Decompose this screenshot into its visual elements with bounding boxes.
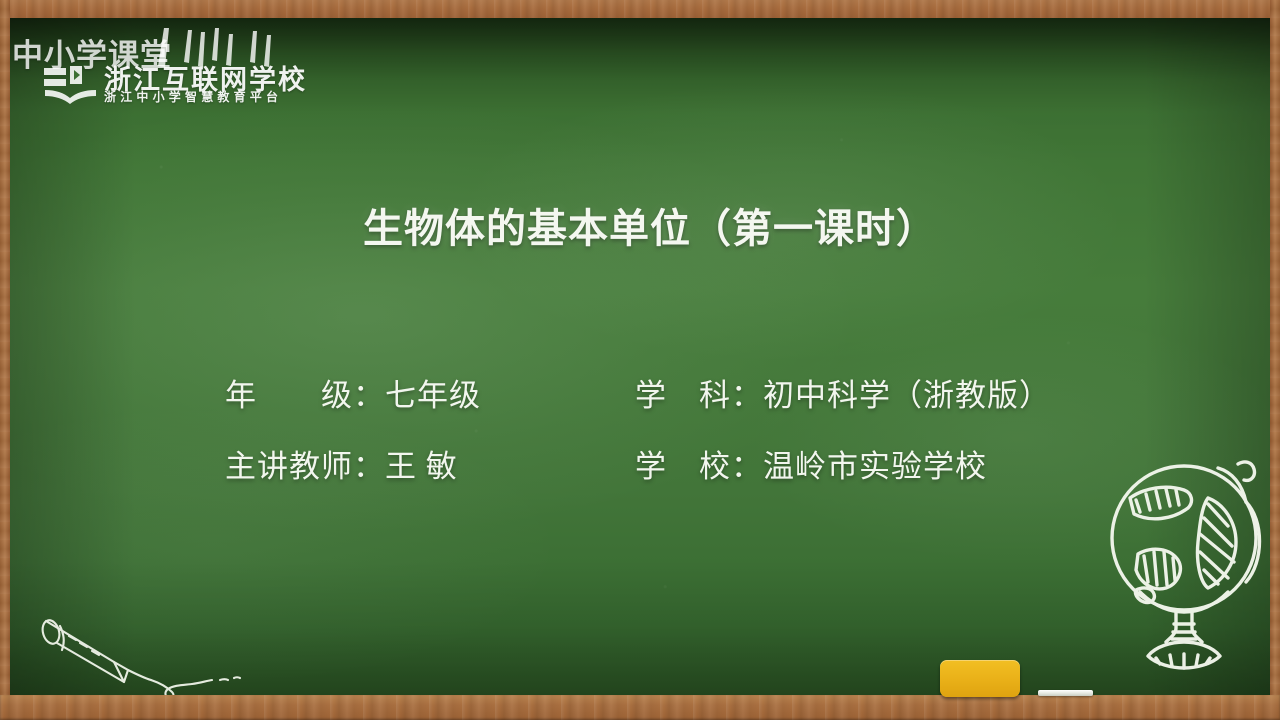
subject-cell: 学 科：初中科学（浙教版） (635, 370, 1125, 415)
lesson-title-slide: 中小学课堂 (0, 0, 1280, 720)
chalk-piece-icon[interactable] (1038, 690, 1093, 696)
board-frame-right (1270, 0, 1280, 720)
grade-cell: 年 级：七年级 (225, 370, 635, 415)
globe-drawing-icon (1096, 442, 1266, 677)
board-vignette (10, 18, 1270, 695)
school-label: 学 校： (635, 441, 763, 486)
teacher-cell: 主讲教师：王 敏 (225, 441, 635, 486)
board-eraser-icon[interactable] (940, 660, 1020, 697)
board-frame-left (0, 0, 10, 720)
open-book-play-icon (42, 62, 100, 106)
platform-subtitle: 浙江中小学智慧教育平台 (104, 88, 282, 105)
school-value: 温岭市实验学校 (763, 441, 987, 486)
subject-label: 学 科： (635, 370, 763, 415)
chalk-pen-drawing-icon (24, 610, 254, 695)
chalkboard-surface: 中小学课堂 (10, 18, 1270, 695)
school-cell: 学 校：温岭市实验学校 (635, 441, 1125, 486)
lesson-title: 生物体的基本单位（第一课时） (10, 196, 1270, 254)
teacher-value: 王 敏 (385, 441, 458, 486)
info-row: 主讲教师：王 敏 学 校：温岭市实验学校 (225, 441, 1125, 486)
subject-value: 初中科学（浙教版） (763, 370, 1051, 415)
board-ledge (0, 695, 1280, 720)
board-frame-top (0, 0, 1280, 18)
grade-label: 年 级： (225, 370, 385, 415)
lesson-info-block: 年 级：七年级 学 科：初中科学（浙教版） 主讲教师：王 敏 学 校：温岭市实验… (225, 370, 1125, 512)
info-row: 年 级：七年级 学 科：初中科学（浙教版） (225, 370, 1125, 415)
platform-logo-cluster: 中小学课堂 (12, 24, 342, 116)
grade-value: 七年级 (385, 370, 481, 415)
teacher-label: 主讲教师： (225, 441, 385, 486)
